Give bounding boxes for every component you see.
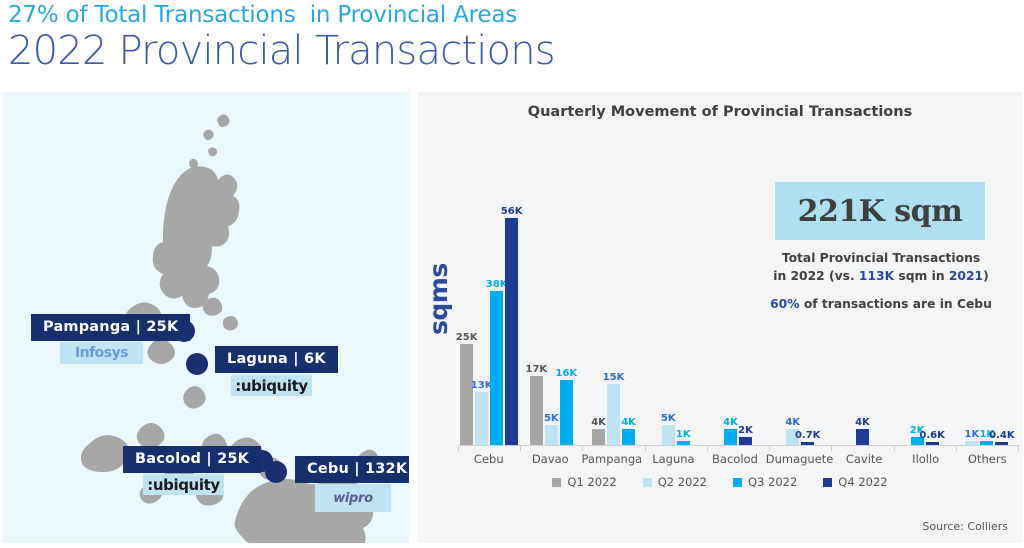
bar-value-label: 0.6K — [919, 430, 944, 441]
header: 27% of Total Transactions in Provincial … — [8, 2, 1008, 73]
wipro-logo-text: wipro — [333, 491, 373, 506]
legend-swatch-icon — [643, 478, 652, 487]
legend-label: Q2 2022 — [658, 475, 707, 489]
x-axis-labels: CebuDavaoPampangaLagunaBacolodDumagueteC… — [458, 452, 1018, 466]
ubiquity-logo-text-2: :ubiquity — [147, 476, 219, 494]
bar-group-davao: 17K5K16K — [520, 202, 582, 445]
chart-y-axis-label: sqms — [424, 263, 453, 335]
legend-label: Q4 2022 — [838, 475, 887, 489]
bar-value-label: 0.4K — [989, 430, 1014, 441]
x-label-bacolod: Bacolod — [704, 452, 766, 466]
bar-value-label: 1K — [965, 429, 980, 440]
bar-value-label: 4K — [785, 417, 800, 428]
bar-wrap: 17K — [530, 202, 543, 445]
bar-wrap: 2K — [739, 202, 752, 445]
bar-value-label: 2K — [738, 425, 753, 436]
bar-laguna-q2[interactable]: 5K — [662, 425, 675, 445]
header-subtitle: 27% of Total Transactions in Provincial … — [8, 2, 1008, 28]
legend-item-q2[interactable]: Q2 2022 — [643, 475, 707, 489]
x-label-dumaguete: Dumaguete — [766, 452, 834, 466]
ubiquity-logo-text: :ubiquity — [235, 377, 307, 395]
kpi-desc-2021-value: 113K — [859, 269, 894, 283]
infosys-logo-text: Infosys — [75, 345, 128, 361]
kpi-description: Total Provincial Transactions in 2022 (v… — [766, 250, 996, 286]
map-panel: Pampanga | 25K Infosys Laguna | 6K :ubiq… — [3, 92, 409, 543]
legend-swatch-icon — [733, 478, 742, 487]
kpi-note: 60% of transactions are in Cebu — [766, 297, 996, 311]
chart-source: Source: Colliers — [922, 520, 1008, 533]
x-label-davao: Davao — [520, 452, 582, 466]
kpi-desc-line1: Total Provincial Transactions — [782, 251, 980, 265]
legend-swatch-icon — [552, 478, 561, 487]
bar-pampanga-q3[interactable]: 4K — [622, 429, 635, 445]
bar-value-label: 5K — [661, 413, 676, 424]
kpi-desc-line2-prefix: in 2022 (vs. — [773, 269, 859, 283]
bar-wrap: 4K — [622, 202, 635, 445]
bar-pampanga-q1[interactable]: 4K — [592, 429, 605, 445]
infographic-page: 27% of Total Transactions in Provincial … — [0, 0, 1024, 548]
bar-wrap: 38K — [490, 202, 503, 445]
infosys-logo: Infosys — [60, 342, 143, 364]
bar-wrap: 4K — [724, 202, 737, 445]
map-label-cebu[interactable]: Cebu | 132K — [295, 456, 409, 483]
bar-cebu-q4[interactable]: 56K — [505, 218, 518, 445]
map-pin-cebu[interactable] — [265, 461, 287, 483]
kpi-note-percent: 60% — [770, 297, 799, 311]
bar-value-label: 5K — [544, 413, 559, 424]
bar-group-pampanga: 4K15K4K — [582, 202, 644, 445]
bar-value-label: 16K — [555, 368, 577, 379]
bar-wrap: 1K — [677, 202, 690, 445]
bar-group-cebu: 25K13K38K56K — [458, 202, 520, 445]
x-label-ilollo: Ilollo — [895, 452, 957, 466]
page-title: 2022 Provincial Transactions — [8, 30, 1008, 73]
map-label-pampanga[interactable]: Pampanga | 25K — [31, 314, 190, 341]
legend-label: Q3 2022 — [748, 475, 797, 489]
bar-value-label: 4K — [723, 417, 738, 428]
bar-value-label: 4K — [855, 417, 870, 428]
kpi-note-text: of transactions are in Cebu — [800, 297, 992, 311]
x-label-cavite: Cavite — [833, 452, 895, 466]
ubiquity-logo-laguna: :ubiquity — [231, 375, 312, 396]
wipro-logo: wipro — [315, 484, 391, 512]
bar-davao-q3[interactable]: 16K — [560, 380, 573, 445]
bar-wrap: 13K — [475, 202, 488, 445]
bar-value-label: 56K — [501, 206, 523, 217]
bar-wrap: 16K — [560, 202, 573, 445]
map-label-bacolod[interactable]: Bacolod | 25K — [123, 446, 261, 473]
legend-item-q4[interactable]: Q4 2022 — [823, 475, 887, 489]
bar-cavite-q4[interactable]: 4K — [856, 429, 869, 445]
kpi-box: 221K sqm — [775, 182, 985, 240]
chart-title: Quarterly Movement of Provincial Transac… — [418, 104, 1022, 120]
bar-wrap: 4K — [592, 202, 605, 445]
bar-wrap: 25K — [460, 202, 473, 445]
legend-swatch-icon — [823, 478, 832, 487]
bar-value-label: 1K — [676, 429, 691, 440]
bar-group-bacolod: 4K2K — [707, 202, 769, 445]
legend-label: Q1 2022 — [567, 475, 616, 489]
bar-value-label: 4K — [591, 417, 606, 428]
x-label-laguna: Laguna — [643, 452, 705, 466]
chart-legend: Q1 2022Q2 2022Q3 2022Q4 2022 — [418, 475, 1022, 489]
bar-cebu-q1[interactable]: 25K — [460, 344, 473, 445]
bar-value-label: 0.7K — [795, 430, 820, 441]
bar-wrap: 5K — [662, 202, 675, 445]
bar-bacolod-q3[interactable]: 4K — [724, 429, 737, 445]
kpi-value: 221K sqm — [798, 194, 963, 229]
x-label-others: Others — [956, 452, 1018, 466]
x-label-pampanga: Pampanga — [581, 452, 643, 466]
bar-bacolod-q4[interactable]: 2K — [739, 437, 752, 445]
bar-cebu-q2[interactable]: 13K — [475, 392, 488, 445]
bar-wrap: 15K — [607, 202, 620, 445]
map-pin-laguna[interactable] — [186, 353, 208, 375]
legend-item-q1[interactable]: Q1 2022 — [552, 475, 616, 489]
ubiquity-logo-bacolod: :ubiquity — [143, 474, 224, 495]
bar-davao-q1[interactable]: 17K — [530, 376, 543, 445]
bar-cebu-q3[interactable]: 38K — [490, 291, 503, 445]
bar-group-laguna: 5K1K — [645, 202, 707, 445]
kpi-desc-line2-mid: sqm in — [894, 269, 949, 283]
bar-wrap: 56K — [505, 202, 518, 445]
kpi-desc-line2-suffix: ) — [983, 269, 989, 283]
bar-value-label: 4K — [621, 417, 636, 428]
legend-item-q3[interactable]: Q3 2022 — [733, 475, 797, 489]
kpi-desc-2021-year: 2021 — [949, 269, 983, 283]
map-label-laguna[interactable]: Laguna | 6K — [215, 346, 338, 373]
bar-pampanga-q2[interactable]: 15K — [607, 384, 620, 445]
x-label-cebu: Cebu — [458, 452, 520, 466]
bar-wrap: 5K — [545, 202, 558, 445]
bar-wrap: 0.4K — [995, 202, 1008, 445]
bar-davao-q2[interactable]: 5K — [545, 425, 558, 445]
chart-panel: Quarterly Movement of Provincial Transac… — [418, 92, 1022, 543]
x-axis-ticks — [458, 445, 1018, 451]
